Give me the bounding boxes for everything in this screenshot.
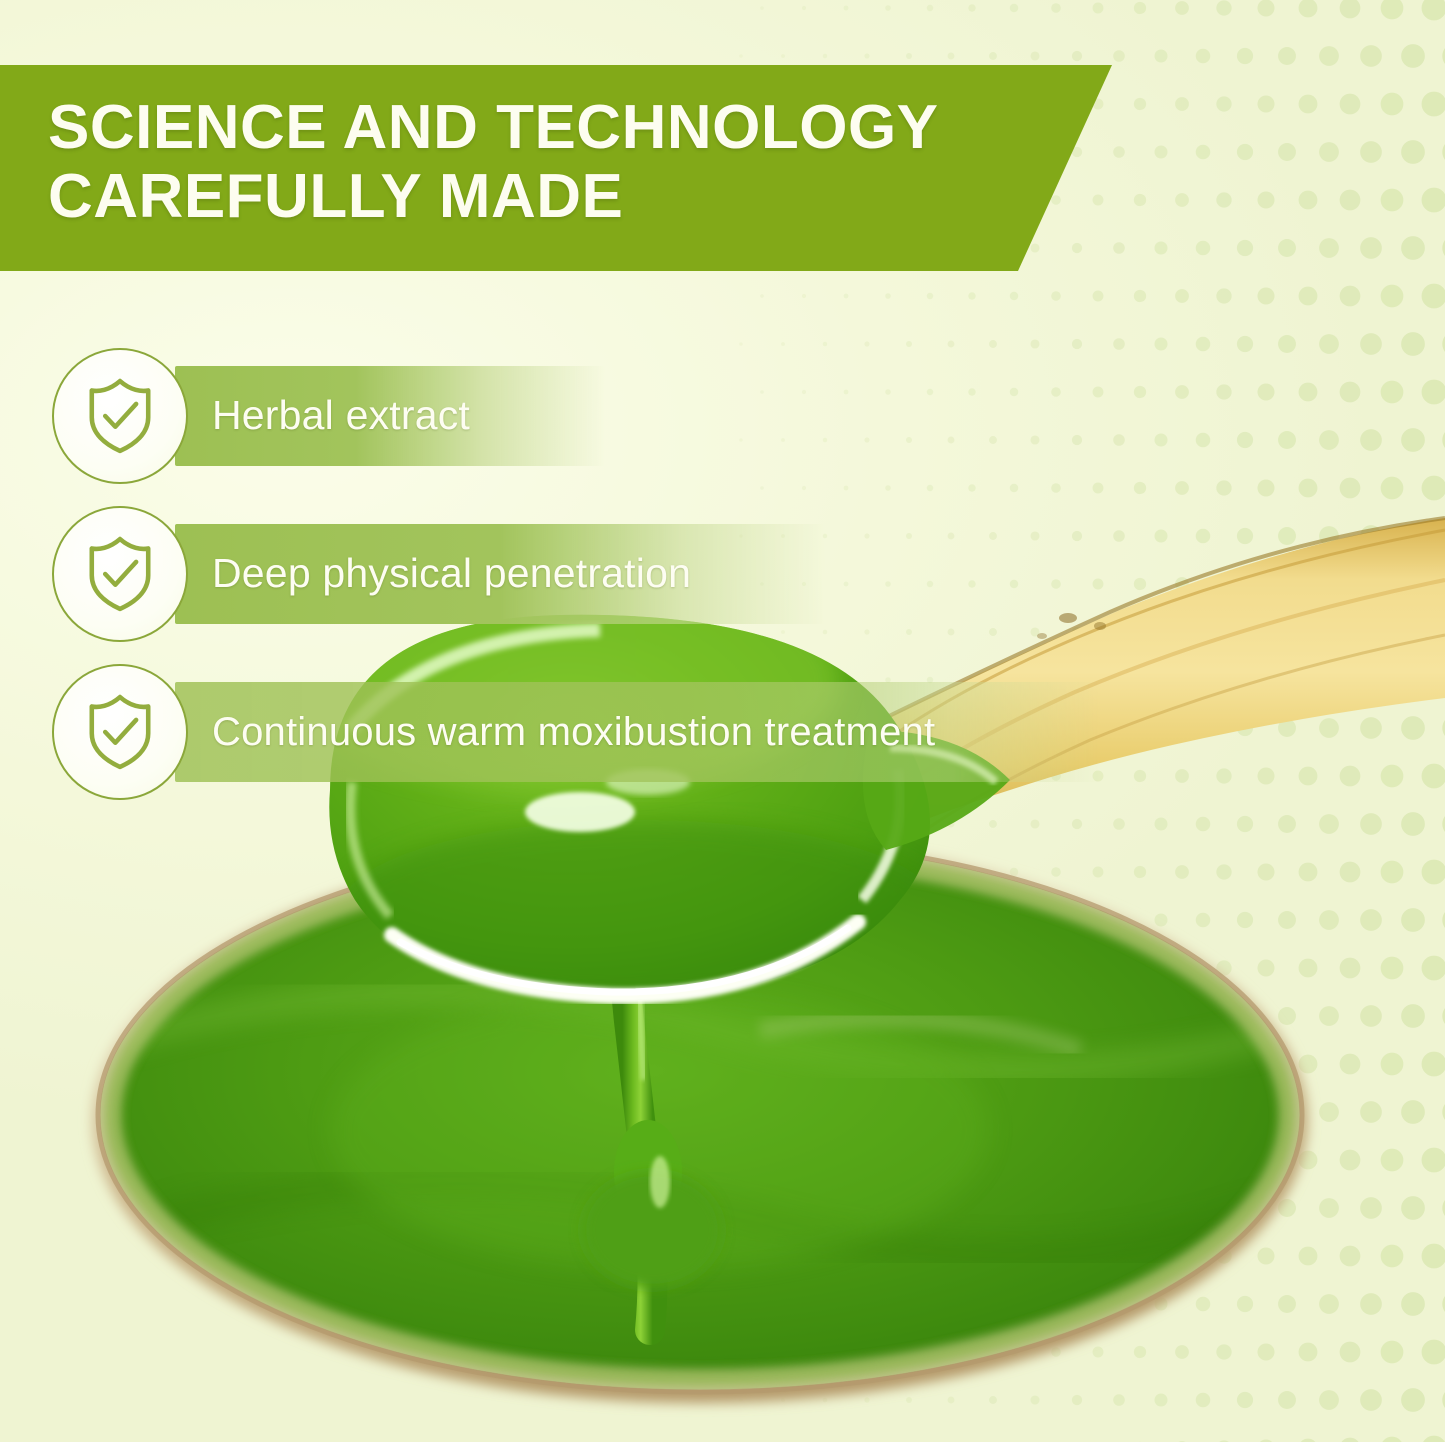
shield-check-icon [77,531,163,617]
feature-label: Continuous warm moxibustion treatment [212,712,935,752]
feature-icon-badge [52,506,188,642]
feature-icon-badge [52,348,188,484]
page-title: SCIENCE AND TECHNOLOGY CAREFULLY MADE [48,93,939,232]
header-banner: SCIENCE AND TECHNOLOGY CAREFULLY MADE [0,65,1115,271]
feature-label: Herbal extract [212,395,470,436]
shield-check-icon [77,373,163,459]
product-feature-poster: SCIENCE AND TECHNOLOGY CAREFULLY MADE He… [0,0,1445,1442]
feature-icon-badge [52,664,188,800]
feature-label: Deep physical penetration [212,553,691,594]
shield-check-icon [77,689,163,775]
